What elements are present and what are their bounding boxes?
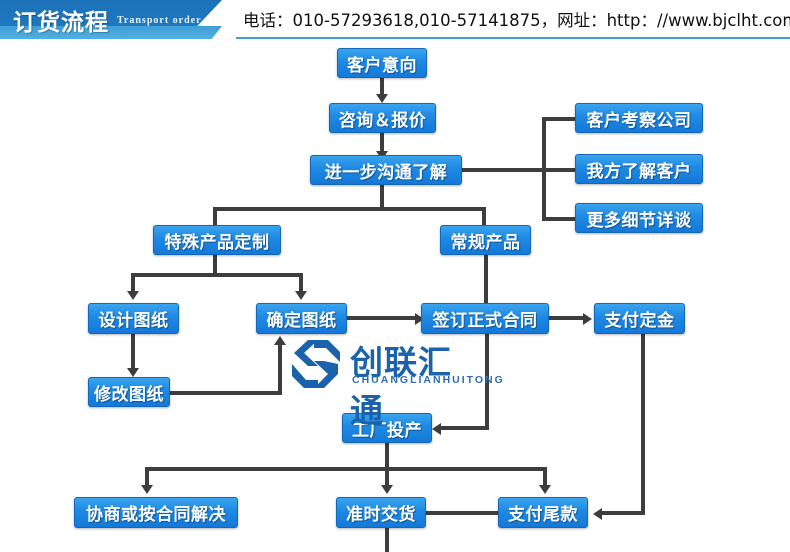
node-label: 客户意向 [347, 51, 417, 76]
connector-design-to-revise [131, 334, 135, 372]
arrowhead-revise-to-confirm [274, 336, 286, 345]
node-further-communicate[interactable]: 进一步沟通了解 [310, 155, 462, 185]
connector-deposit-to-balance [601, 511, 645, 515]
contact-info: 电话：010-57293618,010-57141875，网址：http：//w… [243, 7, 790, 31]
split-bar-drawings [131, 273, 303, 277]
arrowhead-to-confirm-drawing [295, 291, 307, 300]
node-we-know-customer[interactable]: 我方了解客户 [575, 154, 703, 184]
node-label: 我方了解客户 [587, 157, 692, 182]
node-custom-product[interactable]: 特殊产品定制 [153, 225, 281, 255]
node-design-drawing[interactable]: 设计图纸 [88, 303, 179, 334]
arrowhead-to-design-drawing [127, 291, 139, 300]
node-label: 确定图纸 [267, 306, 337, 331]
node-label: 咨询＆报价 [339, 106, 427, 131]
connector-to-standard-product [482, 207, 486, 225]
node-label: 设计图纸 [99, 306, 169, 331]
node-negotiate-or-contract[interactable]: 协商或按合同解决 [74, 497, 238, 528]
node-pay-balance[interactable]: 支付尾款 [498, 497, 588, 528]
connector-delivery-to-balance [423, 511, 501, 515]
connector-deposit-down [641, 333, 645, 515]
arrowhead-to-delivery [381, 485, 393, 494]
node-pay-deposit[interactable]: 支付定金 [594, 303, 685, 334]
split-bar-outcomes [145, 467, 547, 471]
chuanglianhuitong-logo-icon [288, 338, 344, 390]
watermark-pinyin: CHUANGLIANHUITONG [352, 374, 505, 386]
arrowhead-intent-to-quote [376, 94, 388, 103]
node-label: 协商或按合同解决 [86, 500, 226, 525]
order-process-flowchart: 订货流程 Transport order 电话：010-57293618,010… [0, 0, 790, 552]
node-standard-product[interactable]: 常规产品 [440, 225, 531, 255]
connector-delivery-down [385, 528, 389, 552]
connector-communicate-to-bracket [462, 168, 546, 172]
node-customer-visit[interactable]: 客户考察公司 [575, 103, 703, 133]
connector-contract-to-deposit [549, 316, 587, 320]
node-label: 特殊产品定制 [165, 228, 270, 253]
connector-confirm-to-contract [347, 316, 419, 320]
node-label: 支付尾款 [508, 500, 578, 525]
node-consult-quote[interactable]: 咨询＆报价 [329, 103, 436, 133]
header-divider [236, 37, 790, 39]
node-confirm-drawing[interactable]: 确定图纸 [256, 303, 347, 334]
arrowhead-contract-to-deposit [583, 313, 592, 325]
node-label: 修改图纸 [94, 380, 164, 405]
page-title: 订货流程 [13, 3, 109, 37]
connector-bracket-to-know-customer [542, 168, 577, 172]
node-customer-intent[interactable]: 客户意向 [337, 48, 427, 78]
node-label: 进一步沟通了解 [325, 158, 448, 183]
arrowhead-design-to-revise [127, 368, 139, 377]
connector-to-custom-product [213, 207, 217, 225]
connector-revise-right [170, 391, 282, 395]
node-label: 准时交货 [346, 500, 416, 525]
connector-bracket-to-visit [542, 117, 577, 121]
arrowhead-to-balance [539, 485, 551, 494]
connector-revise-up [278, 344, 282, 395]
node-on-time-delivery[interactable]: 准时交货 [336, 497, 426, 528]
node-more-details[interactable]: 更多细节详谈 [575, 203, 703, 233]
header-banner: 订货流程 Transport order [0, 0, 240, 40]
page-subtitle: Transport order [117, 15, 202, 26]
company-watermark: 创联汇通 CHUANGLIANHUITONG [288, 338, 484, 394]
split-bar-product-types [213, 207, 486, 211]
node-label: 签订正式合同 [433, 306, 538, 331]
node-label: 更多细节详谈 [587, 206, 692, 231]
node-revise-drawing[interactable]: 修改图纸 [88, 377, 170, 407]
connector-standard-to-contract [484, 255, 488, 303]
connector-bracket-to-details [542, 217, 577, 221]
node-label: 客户考察公司 [587, 106, 692, 131]
arrowhead-deposit-to-balance [593, 508, 602, 520]
arrowhead-to-negotiate [141, 485, 153, 494]
node-sign-contract[interactable]: 签订正式合同 [421, 303, 549, 334]
node-label: 常规产品 [451, 228, 521, 253]
node-label: 支付定金 [605, 306, 675, 331]
